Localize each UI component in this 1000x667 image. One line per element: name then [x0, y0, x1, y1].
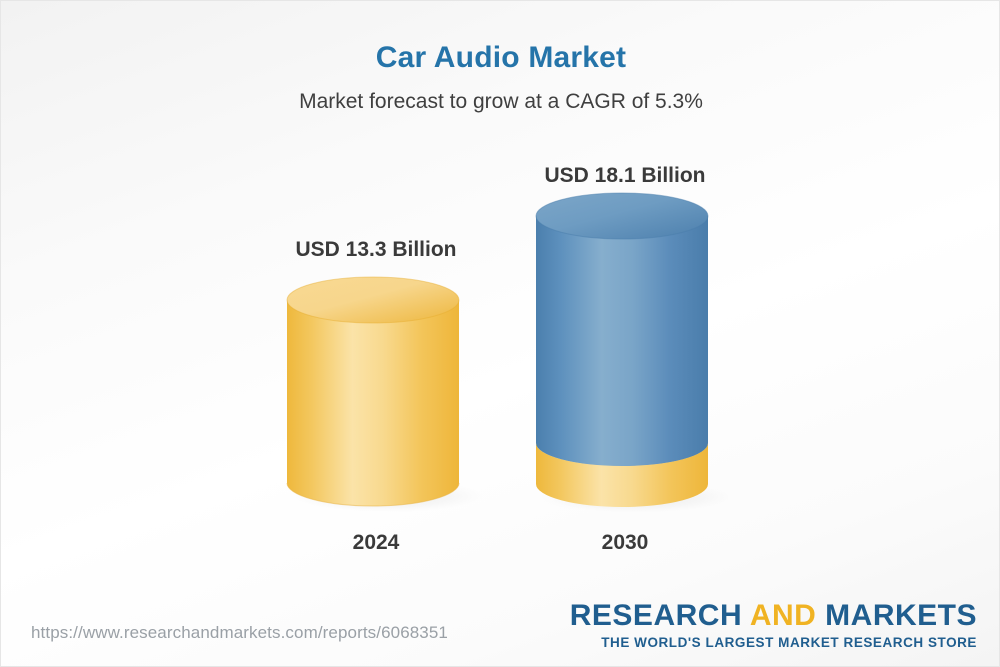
brand-wordmark: RESEARCH AND MARKETS [570, 601, 977, 631]
plot-area: USD 13.3 Billion [1, 141, 1000, 581]
cylinder-bar-2030 [533, 193, 723, 518]
chart-canvas: Car Audio Market Market forecast to grow… [0, 0, 1000, 667]
brand-tagline: THE WORLD'S LARGEST MARKET RESEARCH STOR… [570, 636, 977, 650]
source-url[interactable]: https://www.researchandmarkets.com/repor… [31, 623, 448, 643]
chart-subtitle: Market forecast to grow at a CAGR of 5.3… [1, 90, 1000, 114]
cylinder-bar-2024 [284, 277, 474, 517]
brand-word-and: AND [750, 599, 817, 632]
category-label-2030: 2030 [475, 531, 775, 555]
brand-logo[interactable]: RESEARCH AND MARKETS THE WORLD'S LARGEST… [570, 601, 977, 650]
brand-word-markets: MARKETS [816, 599, 977, 632]
brand-word-research: RESEARCH [570, 599, 750, 632]
bar-value-label-2030: USD 18.1 Billion [475, 164, 775, 188]
bar-value-label-2024: USD 13.3 Billion [226, 238, 526, 262]
page-title: Car Audio Market [1, 41, 1000, 75]
